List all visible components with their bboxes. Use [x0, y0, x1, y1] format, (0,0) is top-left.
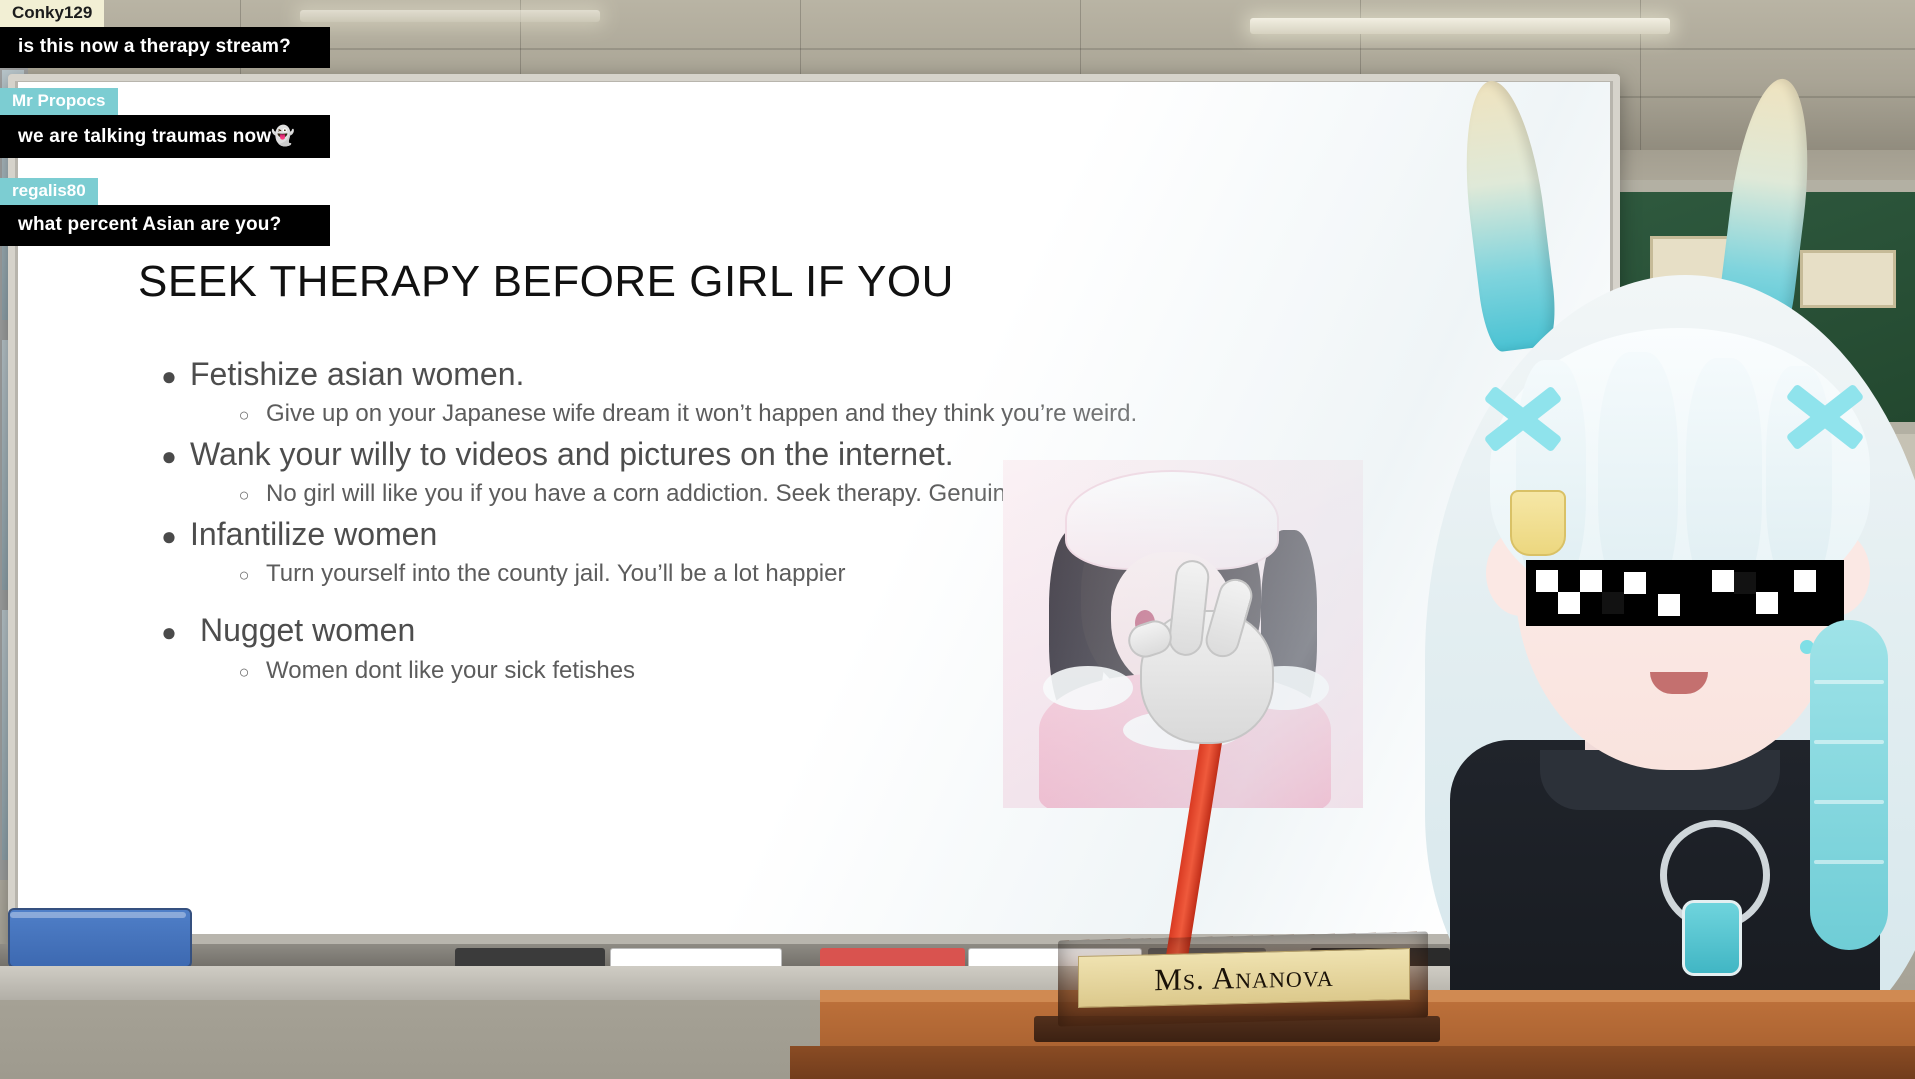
desk-front	[790, 1046, 1915, 1079]
chat-username[interactable]: Conky129	[0, 0, 104, 27]
outfit-pendant	[1682, 900, 1742, 976]
stream-scene: SEEK THERAPY BEFORE GIRL IF YOU ● Fetish…	[0, 0, 1915, 1079]
chat-message: regalis80 what percent Asian are you?	[0, 178, 330, 246]
chat-text: what percent Asian are you?	[0, 205, 330, 246]
horn-left-icon	[1454, 76, 1560, 353]
vtuber-avatar	[1330, 60, 1915, 1079]
hair-charm-icon	[1510, 490, 1566, 556]
chat-username[interactable]: Mr Propocs	[0, 88, 118, 115]
chat-username[interactable]: regalis80	[0, 178, 98, 205]
pixel-sunglasses-icon	[1526, 560, 1844, 626]
eraser-highlight	[10, 912, 186, 918]
ghost-emoji-icon: 👻	[271, 126, 295, 147]
chat-text: is this now a therapy stream?	[0, 27, 330, 68]
chat-text: we are talking traumas now👻	[0, 115, 330, 158]
ceiling-light	[1250, 18, 1670, 34]
nameplate: Ms. Ananova	[1078, 948, 1410, 1008]
chat-overlay: Conky129 is this now a therapy stream? M…	[0, 0, 330, 264]
avatar-hand	[1120, 560, 1290, 750]
nameplate-text: Ms. Ananova	[1154, 958, 1333, 998]
ceiling-light	[300, 10, 600, 22]
chat-message: Mr Propocs we are talking traumas now👻	[0, 88, 330, 158]
chat-message: Conky129 is this now a therapy stream?	[0, 0, 330, 68]
avatar-braid	[1810, 620, 1888, 950]
